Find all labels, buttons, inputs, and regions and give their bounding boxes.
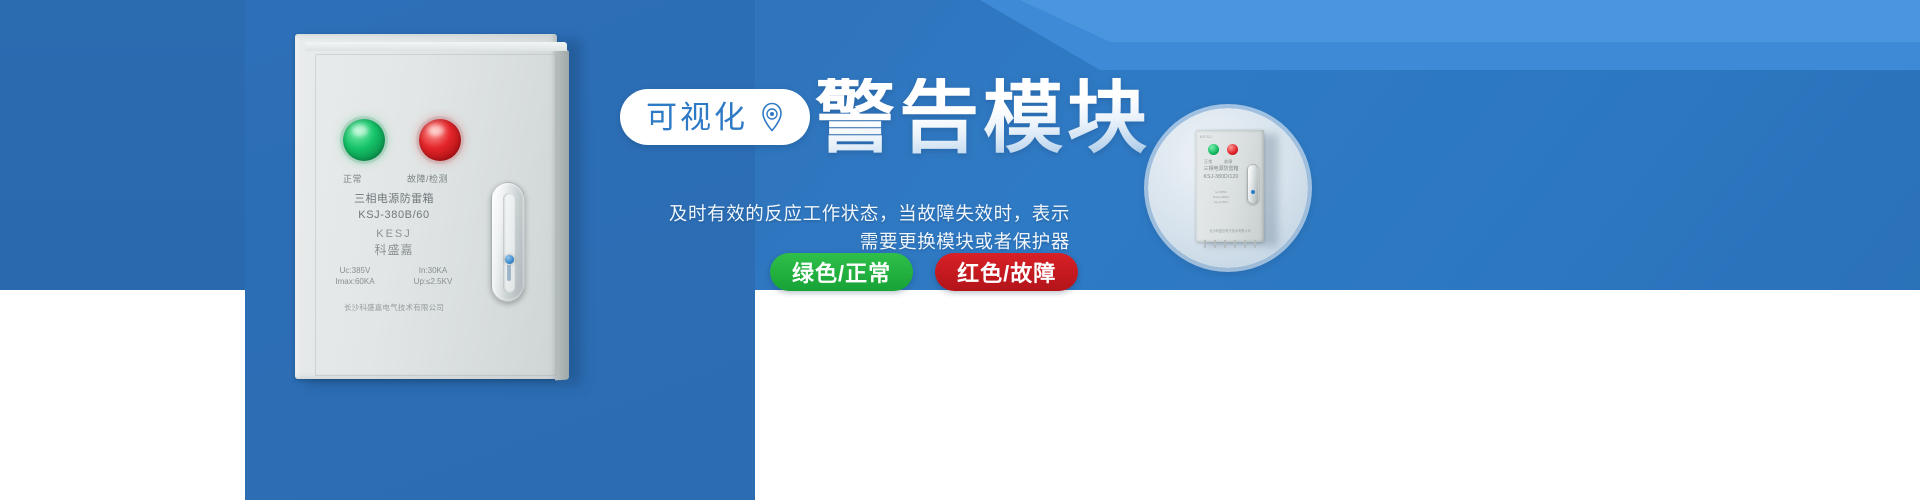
inset-brand-mark: KESJ <box>1200 134 1212 139</box>
inset-terminal-pin <box>1254 240 1256 248</box>
inset-lamp-label-normal: 正常 <box>1204 159 1212 165</box>
lamp-label-fault: 故障/检测 <box>407 172 448 185</box>
product-enclosure: 正常 故障/检测 三相电源防雷箱 KSJ-380B/60 KESJ 科盛嘉 Uc… <box>295 34 557 379</box>
subtitle-line-2: 需要更换模块或者保护器 <box>640 228 1070 256</box>
nameplate-company: 长沙科盛嘉电气技术有限公司 <box>319 303 469 313</box>
location-pin-eye-icon <box>760 102 784 132</box>
inset-terminal-pin <box>1204 240 1206 248</box>
status-tag-normal[interactable]: 绿色/正常 <box>770 253 913 291</box>
inset-indicator-lamp-green-icon <box>1208 144 1219 155</box>
nameplate-brand-cn: 科盛嘉 <box>319 242 469 258</box>
inset-handle-lock-dot-icon <box>1251 190 1255 194</box>
background-white-right <box>750 290 1920 500</box>
product-photo-main: 正常 故障/检测 三相电源防雷箱 KSJ-380B/60 KESJ 科盛嘉 Uc… <box>285 26 575 386</box>
inset-nameplate-specs: Uc:385V Imax:120KA Up:≤2.5KV <box>1198 190 1244 204</box>
inset-terminal-pin <box>1224 240 1226 248</box>
indicator-lamp-red-icon <box>419 119 461 161</box>
inset-terminal-pin <box>1244 240 1246 248</box>
subtitle-line-1: 及时有效的反应工作状态，当故障失效时，表示 <box>640 200 1070 228</box>
visualization-badge: 可视化 <box>620 89 810 145</box>
background-wedge-upper-light <box>1020 0 1920 42</box>
banner-subtitle: 及时有效的反应工作状态，当故障失效时，表示 需要更换模块或者保护器 <box>640 200 1070 256</box>
enclosure-top-edge <box>305 42 567 51</box>
nameplate-spec-up: Up:≤2.5KV <box>397 277 469 288</box>
indicator-lamp-green-icon <box>343 119 385 161</box>
nameplate-brand-en: KESJ <box>319 227 469 242</box>
visualization-badge-label: 可视化 <box>646 102 748 133</box>
handle-lock-dot-icon <box>505 255 514 264</box>
nameplate-title: 三相电源防雷箱 <box>319 192 469 207</box>
inset-nameplate-company: 长沙科盛嘉电气技术有限公司 <box>1193 228 1267 233</box>
nameplate-spec-in: In:30KA <box>397 266 469 277</box>
inset-nameplate-model: KSJ-380D/120 <box>1196 174 1246 182</box>
status-tag-fault[interactable]: 红色/故障 <box>935 253 1078 291</box>
hero-banner: 正常 故障/检测 三相电源防雷箱 KSJ-380B/60 KESJ 科盛嘉 Uc… <box>0 0 1920 500</box>
product-photo-inset: KESJ 正常 故障 三相电源防雷箱 KSJ-380D/120 Uc:385V … <box>1148 108 1308 268</box>
enclosure-door-handle <box>491 182 525 302</box>
nameplate-spec-imax: Imax:60KA <box>319 277 391 288</box>
enclosure-side-edge <box>555 50 569 381</box>
product-nameplate: 三相电源防雷箱 KSJ-380B/60 KESJ 科盛嘉 Uc:385V In:… <box>319 192 469 313</box>
status-tag-group: 绿色/正常 红色/故障 <box>770 253 1078 291</box>
handle-key-icon <box>507 265 511 281</box>
inset-nameplate-title: 三相电源防雷箱 <box>1196 166 1246 174</box>
inset-terminal-pin <box>1214 240 1216 248</box>
inset-lamp-label-fault: 故障 <box>1224 159 1232 165</box>
inset-door-handle <box>1247 164 1259 204</box>
inset-spec-line-3: Up:≤2.5KV <box>1198 200 1244 205</box>
inset-indicator-lamp-red-icon <box>1227 144 1238 155</box>
nameplate-model: KSJ-380B/60 <box>319 208 469 223</box>
inset-terminal-strip <box>1200 240 1260 248</box>
page-title: 警告模块 <box>815 78 1151 158</box>
nameplate-spec-uc: Uc:385V <box>319 266 391 277</box>
nameplate-specs: Uc:385V In:30KA Imax:60KA Up:≤2.5KV <box>319 266 469 288</box>
inset-terminal-pin <box>1234 240 1236 248</box>
lamp-label-normal: 正常 <box>343 172 362 185</box>
inset-nameplate: 三相电源防雷箱 KSJ-380D/120 <box>1196 166 1246 181</box>
